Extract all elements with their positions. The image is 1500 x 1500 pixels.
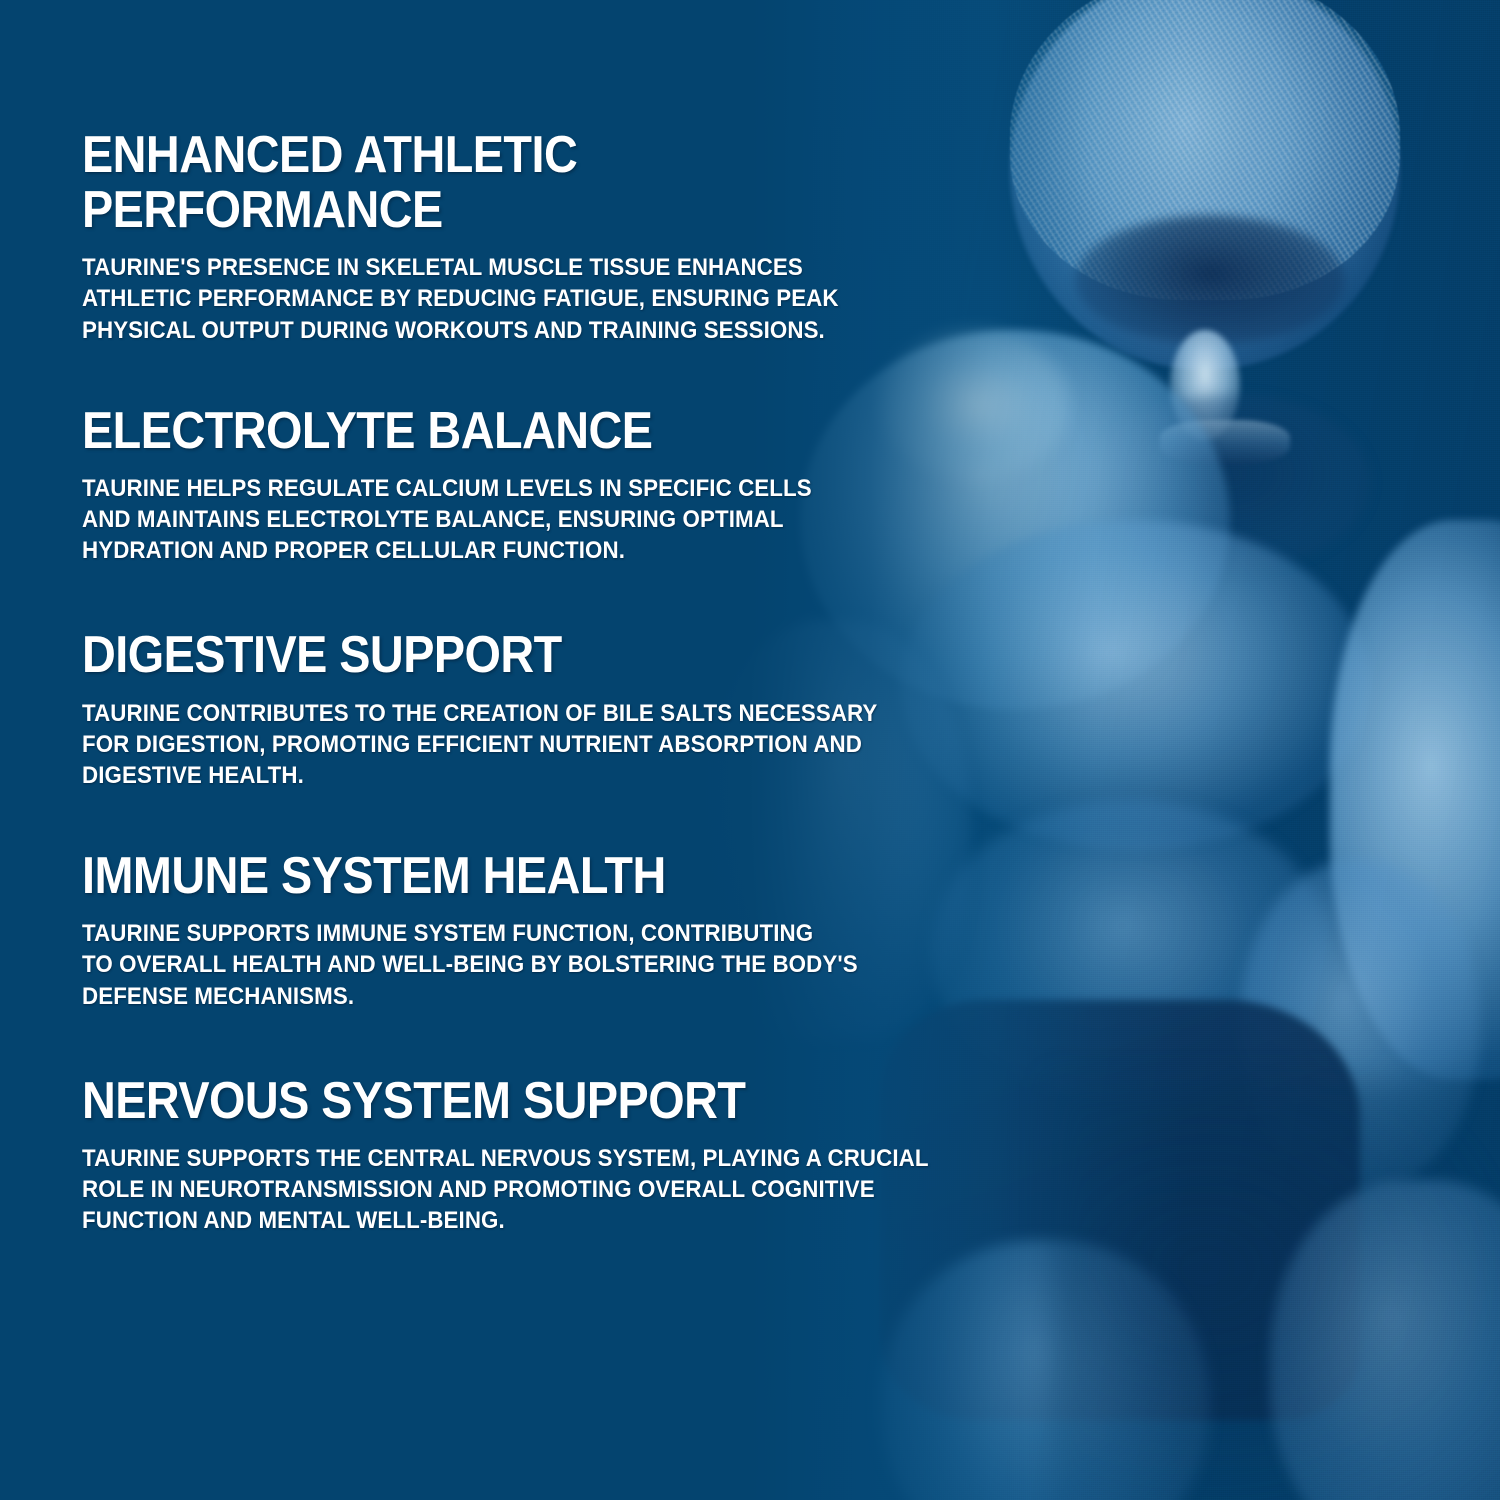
athlete-hair-texture	[1010, 0, 1400, 300]
benefit-description: TAURINE CONTRIBUTES TO THE CREATION OF B…	[82, 698, 992, 792]
athlete-right-arm	[1330, 520, 1500, 1080]
benefit-section-nervous-system-support: NERVOUS SYSTEM SUPPORT TAURINE SUPPORTS …	[82, 1074, 1060, 1237]
athlete-brow-shadow	[1075, 215, 1345, 345]
benefit-title: IMMUNE SYSTEM HEALTH	[82, 849, 962, 904]
athlete-jaw-shadow	[1090, 395, 1370, 570]
athlete-nose-highlight	[1170, 330, 1240, 440]
benefit-description: TAURINE SUPPORTS IMMUNE SYSTEM FUNCTION,…	[82, 918, 992, 1012]
photo-bottom-shadow	[1050, 1080, 1500, 1500]
benefits-list: ENHANCED ATHLETIC PERFORMANCE TAURINE'S …	[0, 0, 1060, 1236]
benefit-description: TAURINE SUPPORTS THE CENTRAL NERVOUS SYS…	[82, 1143, 992, 1237]
athlete-head	[1010, 0, 1400, 370]
benefit-title: ENHANCED ATHLETIC PERFORMANCE	[82, 128, 962, 238]
benefit-section-immune-system-health: IMMUNE SYSTEM HEALTH TAURINE SUPPORTS IM…	[82, 849, 1060, 1012]
athlete-left-thigh	[880, 1240, 1210, 1500]
benefit-description: TAURINE'S PRESENCE IN SKELETAL MUSCLE TI…	[82, 252, 992, 346]
benefit-title: NERVOUS SYSTEM SUPPORT	[82, 1074, 962, 1129]
benefit-section-enhanced-athletic-performance: ENHANCED ATHLETIC PERFORMANCE TAURINE'S …	[82, 128, 1060, 346]
taurine-benefits-infographic: ENHANCED ATHLETIC PERFORMANCE TAURINE'S …	[0, 0, 1500, 1500]
athlete-right-forearm	[1240, 860, 1480, 1190]
benefit-section-electrolyte-balance: ELECTROLYTE BALANCE TAURINE HELPS REGULA…	[82, 404, 1060, 567]
athlete-right-thigh	[1270, 1180, 1500, 1500]
athlete-mouth	[1160, 420, 1290, 464]
benefit-section-digestive-support: DIGESTIVE SUPPORT TAURINE CONTRIBUTES TO…	[82, 628, 1060, 791]
benefit-title: DIGESTIVE SUPPORT	[82, 628, 962, 683]
benefit-title: ELECTROLYTE BALANCE	[82, 404, 962, 459]
benefit-description: TAURINE HELPS REGULATE CALCIUM LEVELS IN…	[82, 473, 992, 567]
